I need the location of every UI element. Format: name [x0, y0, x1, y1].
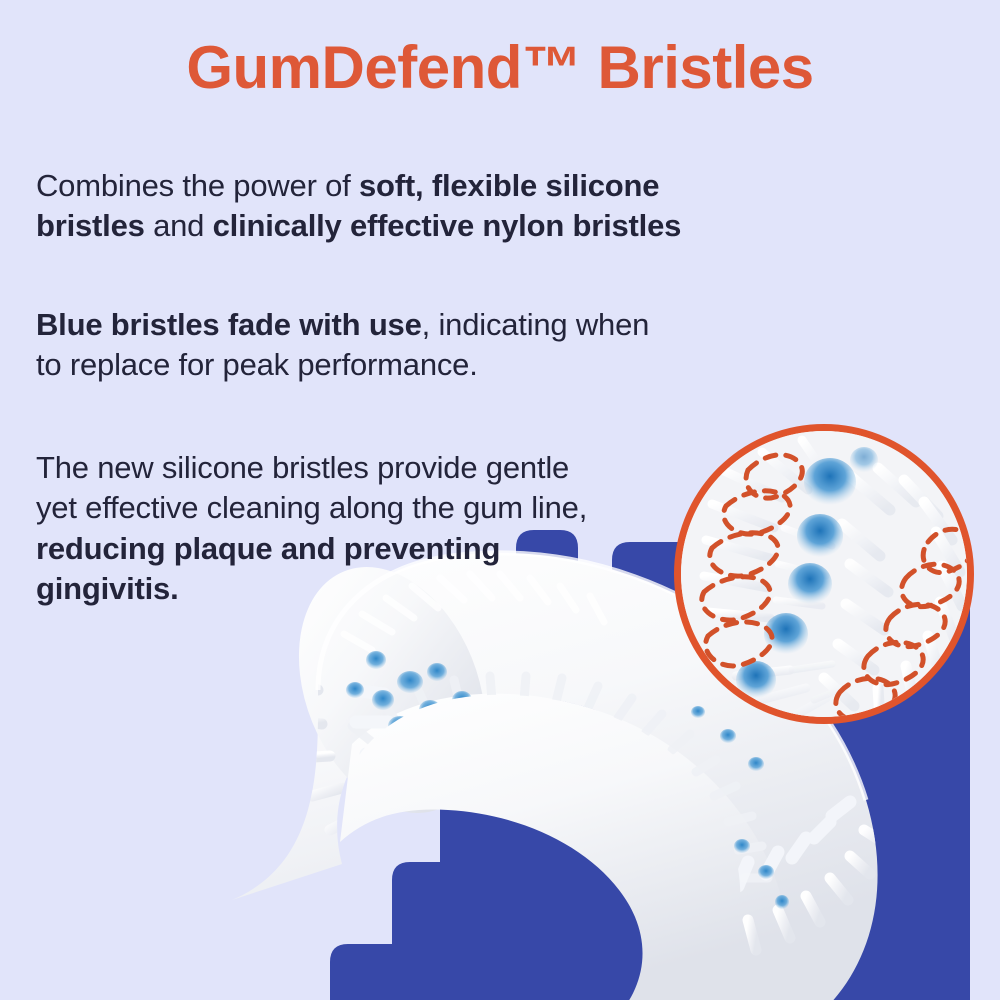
emphasis-text: clinically effective nylon bristles: [213, 208, 682, 243]
bristle-closeup-magnifier: [674, 424, 974, 724]
body-text: Combines the power of: [36, 168, 359, 203]
body-text: and: [145, 208, 213, 243]
benefit-paragraph-2: Blue bristles fade with use, indicating …: [36, 305, 676, 386]
emphasis-text: reducing plaque and preventing gingiviti…: [36, 531, 500, 606]
body-text: The new silicone bristles provide gentle…: [36, 450, 587, 525]
benefit-paragraph-3: The new silicone bristles provide gentle…: [36, 448, 596, 609]
page-title: GumDefend™ Bristles: [0, 34, 1000, 101]
magnifier-content: [674, 424, 974, 724]
infographic-canvas: GumDefend™ Bristles Combines the power o…: [0, 0, 1000, 1000]
benefit-paragraph-1: Combines the power of soft, flexible sil…: [36, 166, 756, 247]
emphasis-text: Blue bristles fade with use: [36, 307, 422, 342]
